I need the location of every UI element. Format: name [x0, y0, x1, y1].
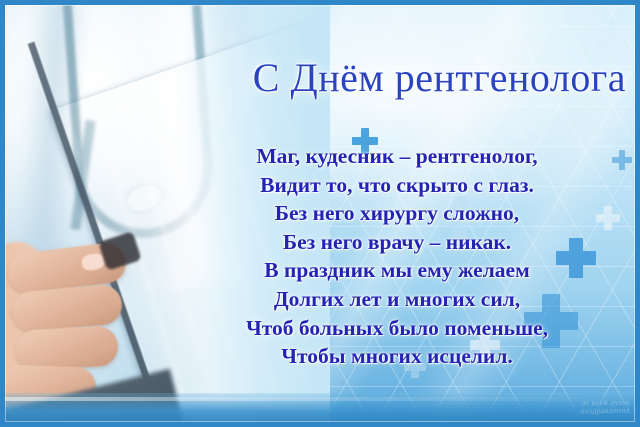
page-title: С Днём рентгенолога — [0, 58, 626, 98]
greeting-card: С Днём рентгенолога Маг, кудесник – рент… — [0, 0, 640, 427]
poem-line: Чтоб больных было поменьше, — [170, 314, 624, 343]
poem-line: Без него врачу – никак. — [170, 228, 624, 257]
finger-middle — [10, 283, 123, 332]
watermark-line-2: поздравления — [580, 407, 630, 416]
poem-text: Маг, кудесник – рентгенолог,Видит то, чт… — [170, 142, 624, 371]
poem-line: Маг, кудесник – рентгенолог, — [170, 142, 624, 171]
poem-line: Чтобы многих исцелил. — [170, 342, 624, 371]
poem-line: Без него хирургу сложно, — [170, 199, 624, 228]
film-grip — [98, 231, 142, 271]
finger-ring — [15, 325, 119, 370]
watermark: от всей души поздравления — [580, 399, 630, 416]
poem-line: Видит то, что скрыто с глаз. — [170, 171, 624, 200]
poem-line: Долгих лет и многих сил, — [170, 285, 624, 314]
poem-line: В праздник мы ему желаем — [170, 256, 624, 285]
bottom-band-highlight — [0, 397, 640, 401]
